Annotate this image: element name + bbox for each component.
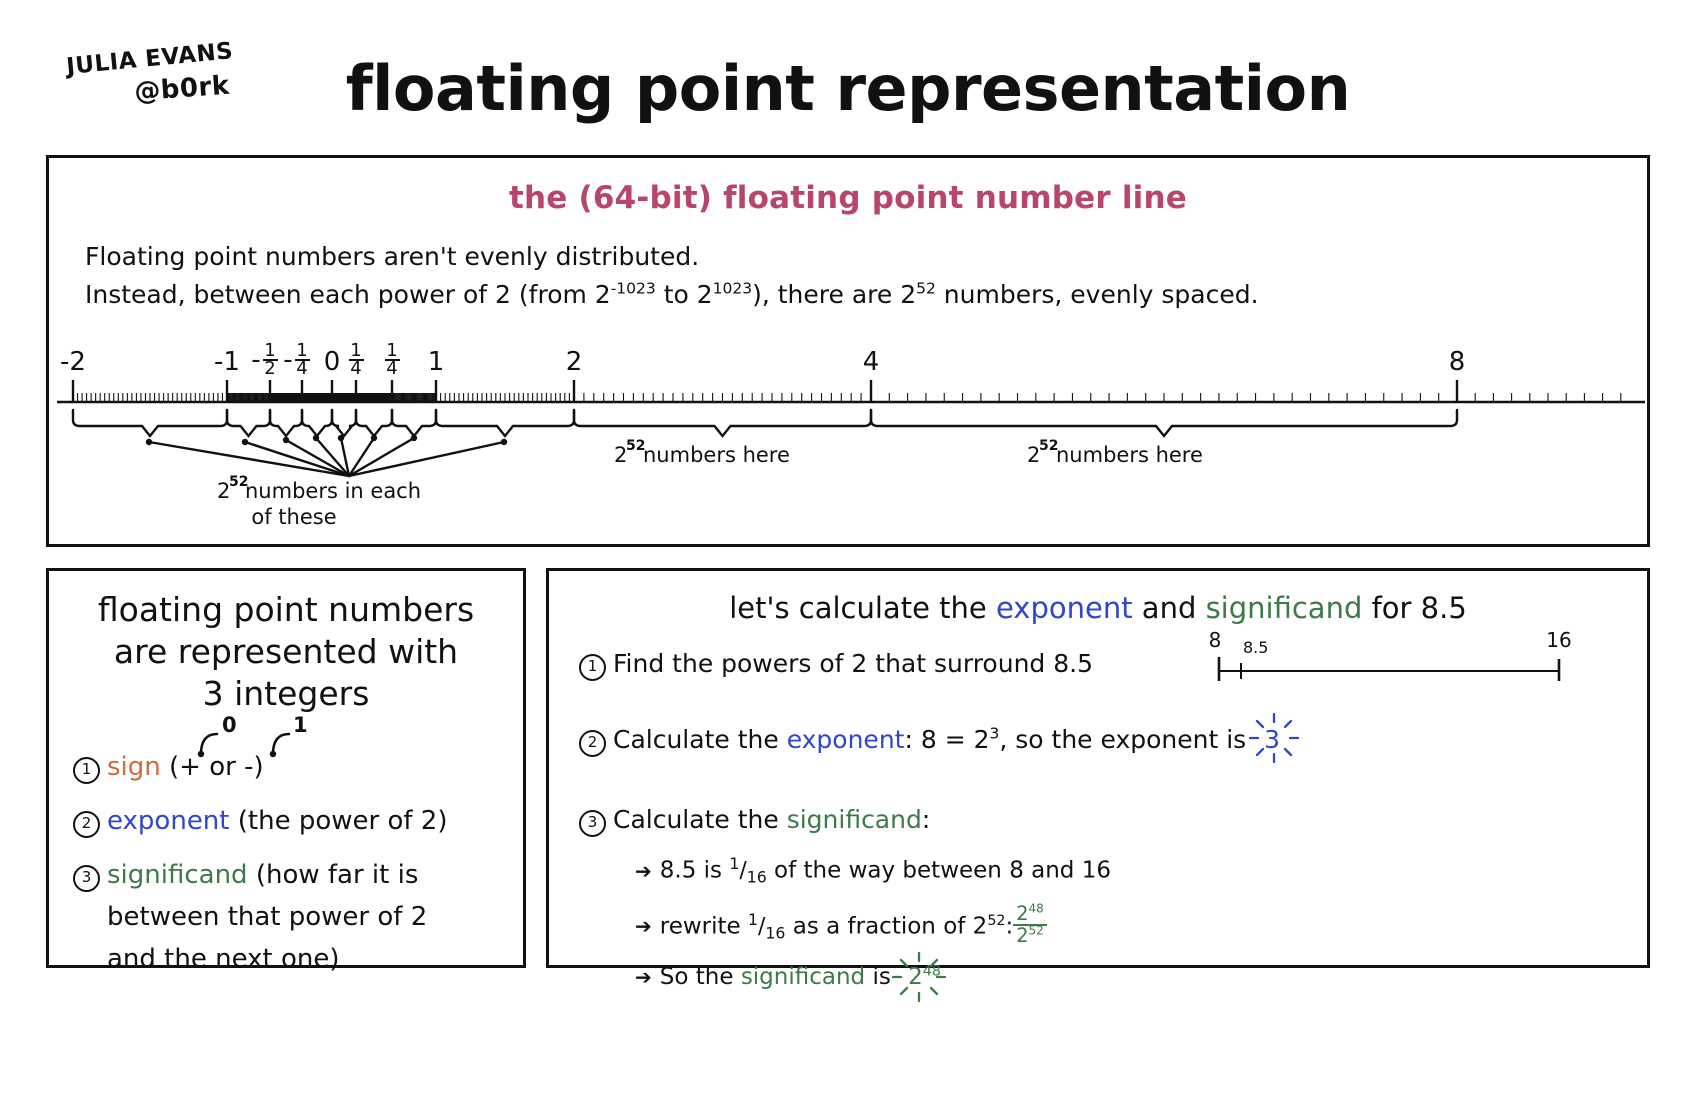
number-line-graphic: -2 -1 0 1 2 4 8 - 1 2 - 1 4 1: [49, 338, 1653, 543]
list-item-sign: 1sign (+ or -) 0 1: [73, 746, 523, 788]
sign-minus-bit: 1: [293, 714, 308, 737]
step-2-sup: 3: [990, 725, 1000, 743]
significand-rest-3: and the next one): [107, 938, 523, 980]
term-exponent: exponent: [107, 806, 229, 836]
axis-label-neg2: -2: [60, 347, 86, 377]
axis-fraction-half: 1 4: [385, 340, 400, 379]
calc-bullet-3: ➔So the significand is 248: [635, 962, 1647, 993]
fanout-base: 2: [217, 479, 230, 503]
heading-line-2: are represented with: [61, 631, 511, 673]
step-3-term: significand: [787, 805, 922, 834]
calculation-panel: let's calculate the exponent and signifi…: [546, 568, 1650, 968]
svg-text:4: 4: [350, 358, 361, 379]
axis-fraction-quarter: 1 4: [349, 340, 364, 379]
step-number-2: 2: [579, 730, 606, 757]
svg-text:2: 2: [264, 358, 275, 379]
desc2-d: numbers, evenly spaced.: [936, 280, 1259, 309]
fanout-line2: of these: [251, 505, 336, 529]
item-number-3: 3: [73, 865, 100, 892]
bullet-1-frac-den: 16: [747, 868, 767, 887]
calc-head-a: let's calculate the: [729, 591, 996, 625]
bullet-2-big-fraction: 248 252: [1013, 904, 1047, 947]
big-num-sup: 48: [1029, 901, 1044, 915]
number-line-description: Floating point numbers aren't evenly dis…: [85, 238, 1259, 313]
number-line-panel-title: the (64-bit) floating point number line: [49, 180, 1647, 216]
axis-label-one: 1: [428, 347, 445, 377]
exponent-result-value: 3: [1264, 725, 1280, 754]
desc2-a: Instead, between each power of 2 (from 2: [85, 280, 611, 309]
arrow-right-icon: ➔: [635, 914, 652, 938]
axis-label-zero: 0: [324, 347, 341, 377]
calc-step-3: 3Calculate the significand: ➔8.5 is 1/16…: [579, 803, 1647, 993]
significand-result-value: 248: [908, 964, 941, 990]
step-2-term: exponent: [787, 725, 905, 754]
calc-head-b: and: [1133, 591, 1206, 625]
calc-head-c: for 8.5: [1362, 591, 1466, 625]
bullet-1-frac-num: 1: [729, 854, 739, 873]
significand-rest-2: between that power of 2: [107, 896, 523, 938]
svg-text:4: 4: [386, 358, 397, 379]
mini-label-16: 16: [1546, 631, 1571, 652]
step-3-text-b: :: [922, 805, 930, 834]
mid-base: 2: [614, 443, 627, 467]
calc-step-2: 2Calculate the exponent: 8 = 23, so the …: [579, 723, 1647, 757]
three-integers-panel: floating point numbers are represented w…: [46, 568, 526, 968]
step-1-text: Find the powers of 2 that surround 8.5: [613, 649, 1093, 678]
step-number-1: 1: [579, 654, 606, 681]
fanout-line1: numbers in each: [245, 479, 421, 503]
calc-head-exponent: exponent: [996, 591, 1133, 625]
bullet-1-text-b: of the way between 8 and 16: [767, 858, 1111, 884]
calculation-steps: 1Find the powers of 2 that surround 8.5 …: [579, 647, 1647, 993]
axis-ticks: [73, 380, 1621, 402]
heading-line-1: floating point numbers: [61, 589, 511, 631]
item-number-2: 2: [73, 811, 100, 838]
mini-number-line: 8 8.5 16: [1199, 631, 1589, 687]
calculation-heading: let's calculate the exponent and signifi…: [549, 591, 1647, 625]
svg-text:-: -: [283, 345, 292, 375]
bullet-1-fraction: 1/16: [729, 853, 766, 888]
step-2-text-a: Calculate the: [613, 725, 787, 754]
heading-line-3: 3 integers: [61, 673, 511, 715]
bullet-2-text-b: as a fraction of 2: [785, 913, 987, 939]
bullet-2-text-c: :: [1005, 913, 1013, 939]
desc2-c: ), there are 2: [752, 280, 916, 309]
axis-fraction-neg-quarter: - 1 4: [283, 340, 310, 379]
step-2-text-c: , so the exponent is: [999, 725, 1254, 754]
significand-rest-1: (how far it is: [256, 860, 419, 890]
step-2-text-b: : 8 = 2: [904, 725, 989, 754]
calc-step-1: 1Find the powers of 2 that surround 8.5 …: [579, 647, 1647, 681]
right-annotation: 52 2 numbers here: [1027, 438, 1203, 467]
bullet-2-text-a: rewrite: [660, 913, 748, 939]
desc2-b: to 2: [656, 280, 713, 309]
big-den-sup: 52: [1029, 924, 1044, 938]
bullet-2-frac-num: 1: [748, 910, 758, 929]
fanout-annotation: 52 2 numbers in each of these: [217, 474, 421, 529]
number-line-panel: the (64-bit) floating point number line …: [46, 155, 1650, 547]
right-base: 2: [1027, 443, 1040, 467]
axis-brackets: [73, 410, 1457, 436]
axis-label-two: 2: [566, 347, 583, 377]
three-integers-heading: floating point numbers are represented w…: [61, 589, 511, 716]
infographic-page: JULIA EVANS @b0rk floating point represe…: [0, 0, 1696, 1094]
exponent-rest: (the power of 2): [238, 806, 448, 836]
three-integers-list: 1sign (+ or -) 0 1 2exponent (the power …: [73, 746, 523, 981]
fanout-arrows: [146, 435, 507, 476]
sign-plus-bit: 0: [222, 714, 237, 737]
arrow-right-icon: ➔: [635, 965, 652, 989]
term-significand: significand: [107, 860, 248, 890]
step-3-text-a: Calculate the: [613, 805, 787, 834]
exp-neg-1023: -1023: [611, 279, 656, 297]
mini-label-8point5: 8.5: [1243, 638, 1268, 657]
arrow-right-icon: ➔: [635, 859, 652, 883]
right-text: numbers here: [1056, 443, 1203, 467]
list-item-significand: 3significand (how far it is between that…: [73, 854, 523, 980]
axis-label-eight: 8: [1449, 347, 1466, 377]
bullet-3-text-a: So the: [660, 964, 741, 990]
axis-label-four: 4: [863, 347, 880, 377]
significand-result-highlight: 248: [898, 962, 951, 993]
calc-bullet-2: ➔rewrite 1/16 as a fraction of 252: 248 …: [635, 904, 1647, 947]
mid-annotation: 52 2 numbers here: [614, 438, 790, 467]
big-den-base: 2: [1016, 924, 1028, 947]
result-sup: 48: [923, 964, 941, 980]
description-line-1: Floating point numbers aren't evenly dis…: [85, 238, 1259, 276]
exp-pos-1023: 1023: [713, 279, 752, 297]
bullet-2-fraction: 1/16: [748, 909, 785, 944]
bullet-2-frac-den: 16: [765, 924, 785, 943]
sign-bit-annotations: 0 1: [189, 714, 349, 760]
list-item-exponent: 2exponent (the power of 2): [73, 800, 523, 842]
term-sign: sign: [107, 752, 161, 782]
exp-52: 52: [916, 279, 936, 297]
svg-text:-: -: [251, 345, 260, 375]
calc-bullet-1: ➔8.5 is 1/16 of the way between 8 and 16: [635, 853, 1647, 888]
big-fraction-denominator: 252: [1013, 926, 1047, 946]
description-line-2: Instead, between each power of 2 (from 2…: [85, 276, 1259, 314]
page-title: floating point representation: [0, 52, 1696, 125]
bullet-3-term: significand: [741, 964, 865, 990]
bullet-1-text-a: 8.5 is: [660, 858, 730, 884]
step-number-3: 3: [579, 810, 606, 837]
result-base: 2: [908, 964, 923, 990]
mid-text: numbers here: [643, 443, 790, 467]
big-num-base: 2: [1016, 902, 1028, 925]
mini-label-8: 8: [1209, 631, 1222, 652]
axis-label-neg1: -1: [214, 347, 240, 377]
item-number-1: 1: [73, 757, 100, 784]
bullet-2-sup: 52: [987, 913, 1005, 929]
svg-text:4: 4: [296, 358, 307, 379]
exponent-result-highlight: 3: [1254, 723, 1290, 757]
axis-fraction-neg-half: - 1 2: [251, 340, 278, 379]
calc-head-significand: significand: [1206, 591, 1363, 625]
